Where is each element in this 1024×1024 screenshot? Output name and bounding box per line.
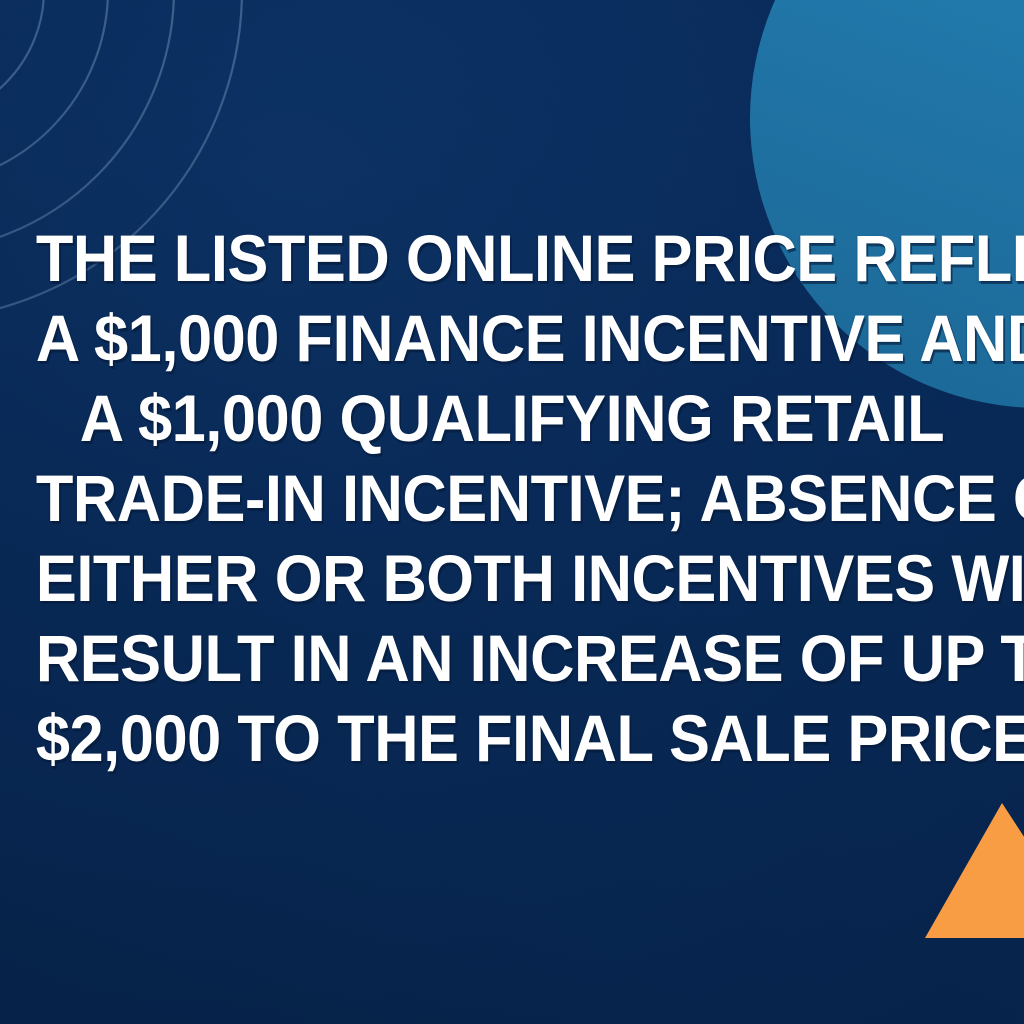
headline-line-3: A $1,000 QUALIFYING RETAIL — [36, 378, 988, 458]
headline-line-5: EITHER OR BOTH INCENTIVES WILL — [36, 538, 988, 618]
headline-line-6: RESULT IN AN INCREASE OF UP TO — [36, 618, 988, 698]
headline-line-4: TRADE-IN INCENTIVE; ABSENCE OF — [36, 458, 988, 538]
poster-canvas: THE LISTED ONLINE PRICE REFLECTS A $1,00… — [0, 0, 1024, 1024]
headline-line-2: A $1,000 FINANCE INCENTIVE AND — [36, 298, 988, 378]
headline-line-1: THE LISTED ONLINE PRICE REFLECTS — [36, 218, 988, 298]
disclaimer-headline: THE LISTED ONLINE PRICE REFLECTS A $1,00… — [0, 218, 1024, 778]
headline-line-7: $2,000 TO THE FINAL SALE PRICE. — [36, 698, 988, 778]
orange-triangle — [900, 790, 1024, 950]
